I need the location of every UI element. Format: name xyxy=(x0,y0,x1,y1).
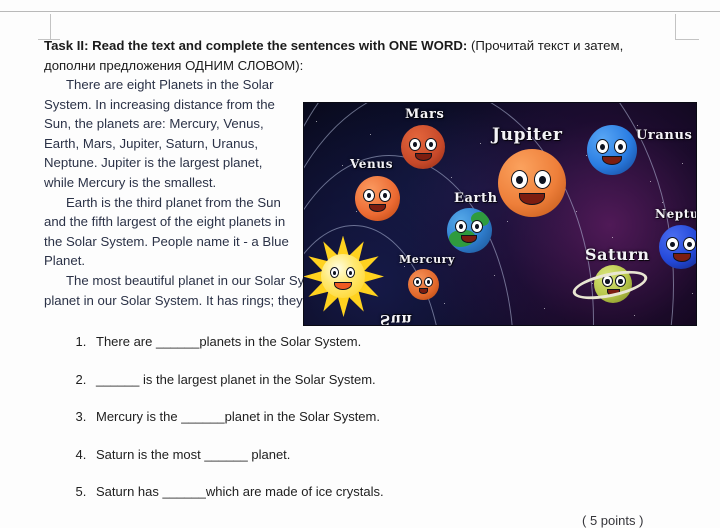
label-saturn: Saturn xyxy=(585,245,650,264)
label-mercury: Mercury xyxy=(399,253,455,266)
text-column-left: There are eight Planets in the Solar Sys… xyxy=(44,75,294,271)
label-earth: Earth xyxy=(454,191,498,206)
question-item[interactable]: ______ is the largest planet in the Sola… xyxy=(90,371,674,388)
planet-venus xyxy=(355,176,400,221)
planet-jupiter xyxy=(498,149,566,217)
task-heading: Task II: Read the text and complete the … xyxy=(44,36,674,75)
text-and-figure-block: Sun Mercury Venus xyxy=(44,75,674,310)
label-venus: Venus xyxy=(350,157,393,171)
sun-face xyxy=(321,254,365,298)
label-sun: Sun xyxy=(380,311,412,326)
document-body: Task II: Read the text and complete the … xyxy=(44,36,674,521)
question-item[interactable]: There are ______planets in the Solar Sys… xyxy=(90,333,674,350)
label-mars: Mars xyxy=(405,107,444,122)
planet-mars xyxy=(401,125,445,169)
label-neptune: Neptune xyxy=(655,207,697,221)
question-item[interactable]: Saturn is the most ______ planet. xyxy=(90,446,674,463)
planet-sun xyxy=(308,241,378,311)
task-label: Task II: Read the text and complete the … xyxy=(44,38,467,53)
planet-earth xyxy=(447,208,492,253)
document-page: Task II: Read the text and complete the … xyxy=(0,0,720,528)
planet-neptune xyxy=(659,225,697,269)
label-jupiter: Jupiter xyxy=(492,125,563,145)
page-top-rule xyxy=(0,11,720,12)
solar-system-image: Sun Mercury Venus xyxy=(303,102,697,326)
planet-mercury xyxy=(408,269,439,300)
question-item[interactable]: Mercury is the ______planet in the Solar… xyxy=(90,408,674,425)
planet-uranus xyxy=(587,125,637,175)
paragraph-1: There are eight Planets in the Solar Sys… xyxy=(44,75,294,193)
question-list: There are ______planets in the Solar Sys… xyxy=(44,333,674,500)
label-uranus: Uranus xyxy=(636,128,692,143)
paragraph-2: Earth is the third planet from the Sun a… xyxy=(44,193,294,271)
points-note: ( 5 points ) xyxy=(582,513,643,528)
question-item[interactable]: Saturn has ______which are made of ice c… xyxy=(90,483,674,500)
planet-saturn xyxy=(572,261,648,313)
